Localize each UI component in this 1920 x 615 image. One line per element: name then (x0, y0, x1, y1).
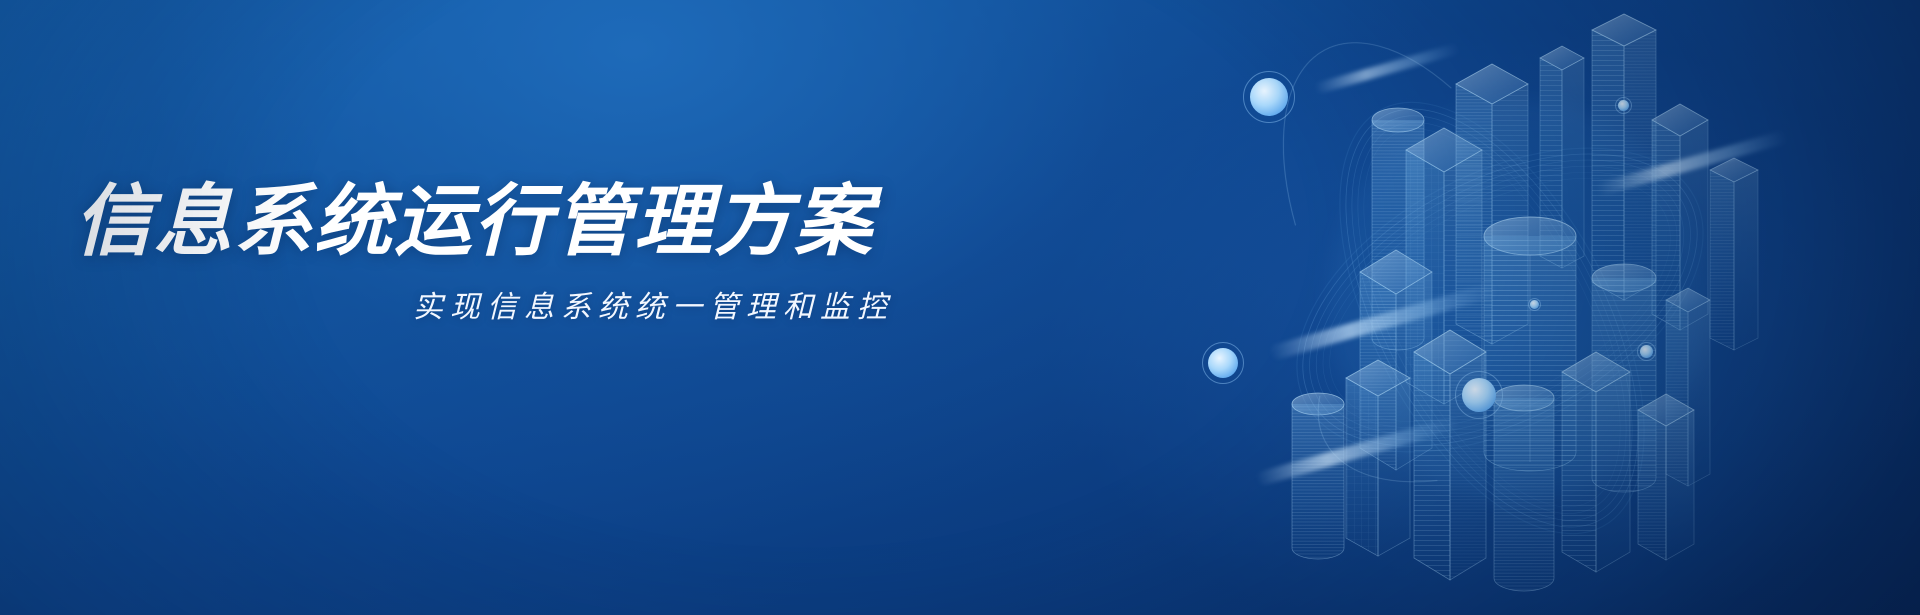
hero-artwork (1200, 0, 1920, 615)
glow-dot (1530, 300, 1539, 309)
banner-title: 信息系统运行管理方案 (74, 182, 904, 260)
glow-dot (1462, 378, 1496, 412)
banner-hero: 信息系统运行管理方案 实现信息系统统一管理和监控 (0, 0, 1920, 615)
glow-dot (1250, 78, 1288, 116)
hero-text-block: 信息系统运行管理方案 实现信息系统统一管理和监控 (74, 182, 904, 326)
glow-dot (1640, 345, 1653, 358)
banner-subtitle: 实现信息系统统一管理和监控 (74, 282, 904, 326)
glow-dot (1208, 348, 1238, 378)
glow-dot (1618, 100, 1629, 111)
